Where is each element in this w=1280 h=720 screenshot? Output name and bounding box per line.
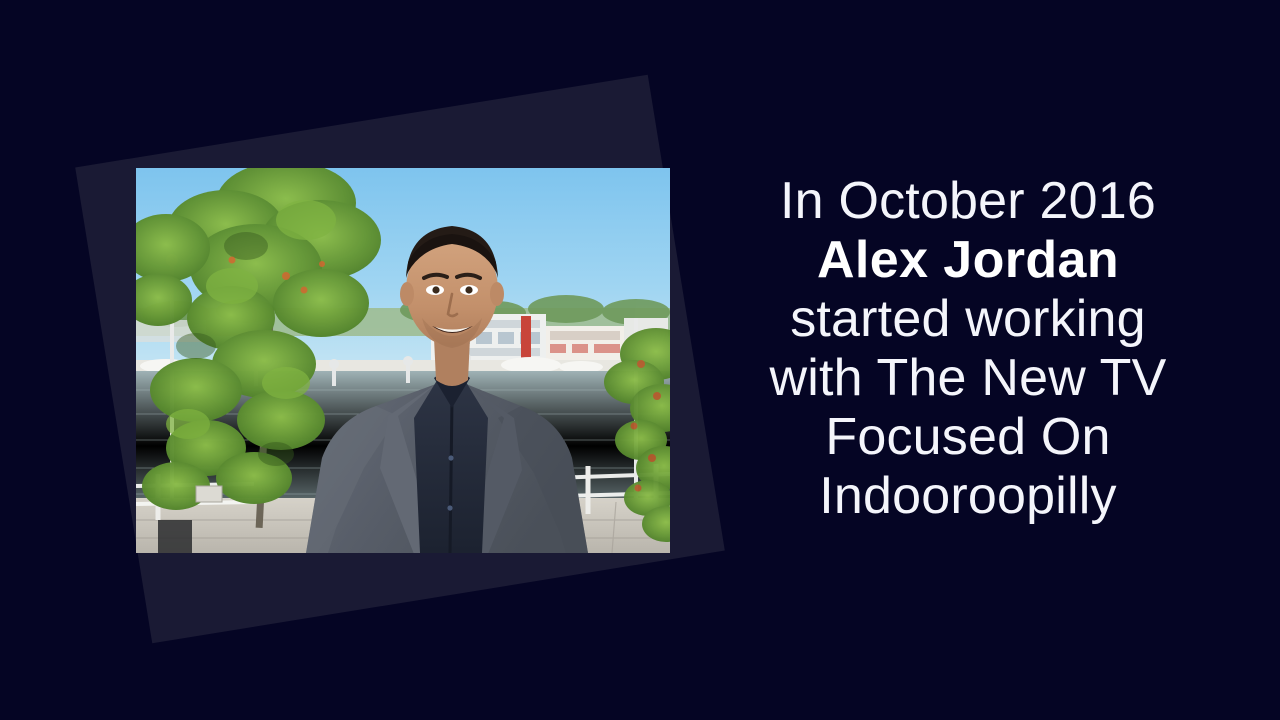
headline-line-2-name: Alex Jordan [720,231,1216,290]
photo-image [136,168,670,553]
headline-line-1: In October 2016 [720,172,1216,231]
headline-line-5: Focused On [720,408,1216,467]
headline-text-block: In October 2016 Alex Jordan started work… [720,172,1216,526]
headline-line-4: with The New TV [720,349,1216,408]
headline-line-6: Indooroopilly [720,467,1216,526]
slide-canvas: In October 2016 Alex Jordan started work… [0,0,1280,720]
photo-illustration [136,168,670,553]
headline-line-3: started working [720,290,1216,349]
